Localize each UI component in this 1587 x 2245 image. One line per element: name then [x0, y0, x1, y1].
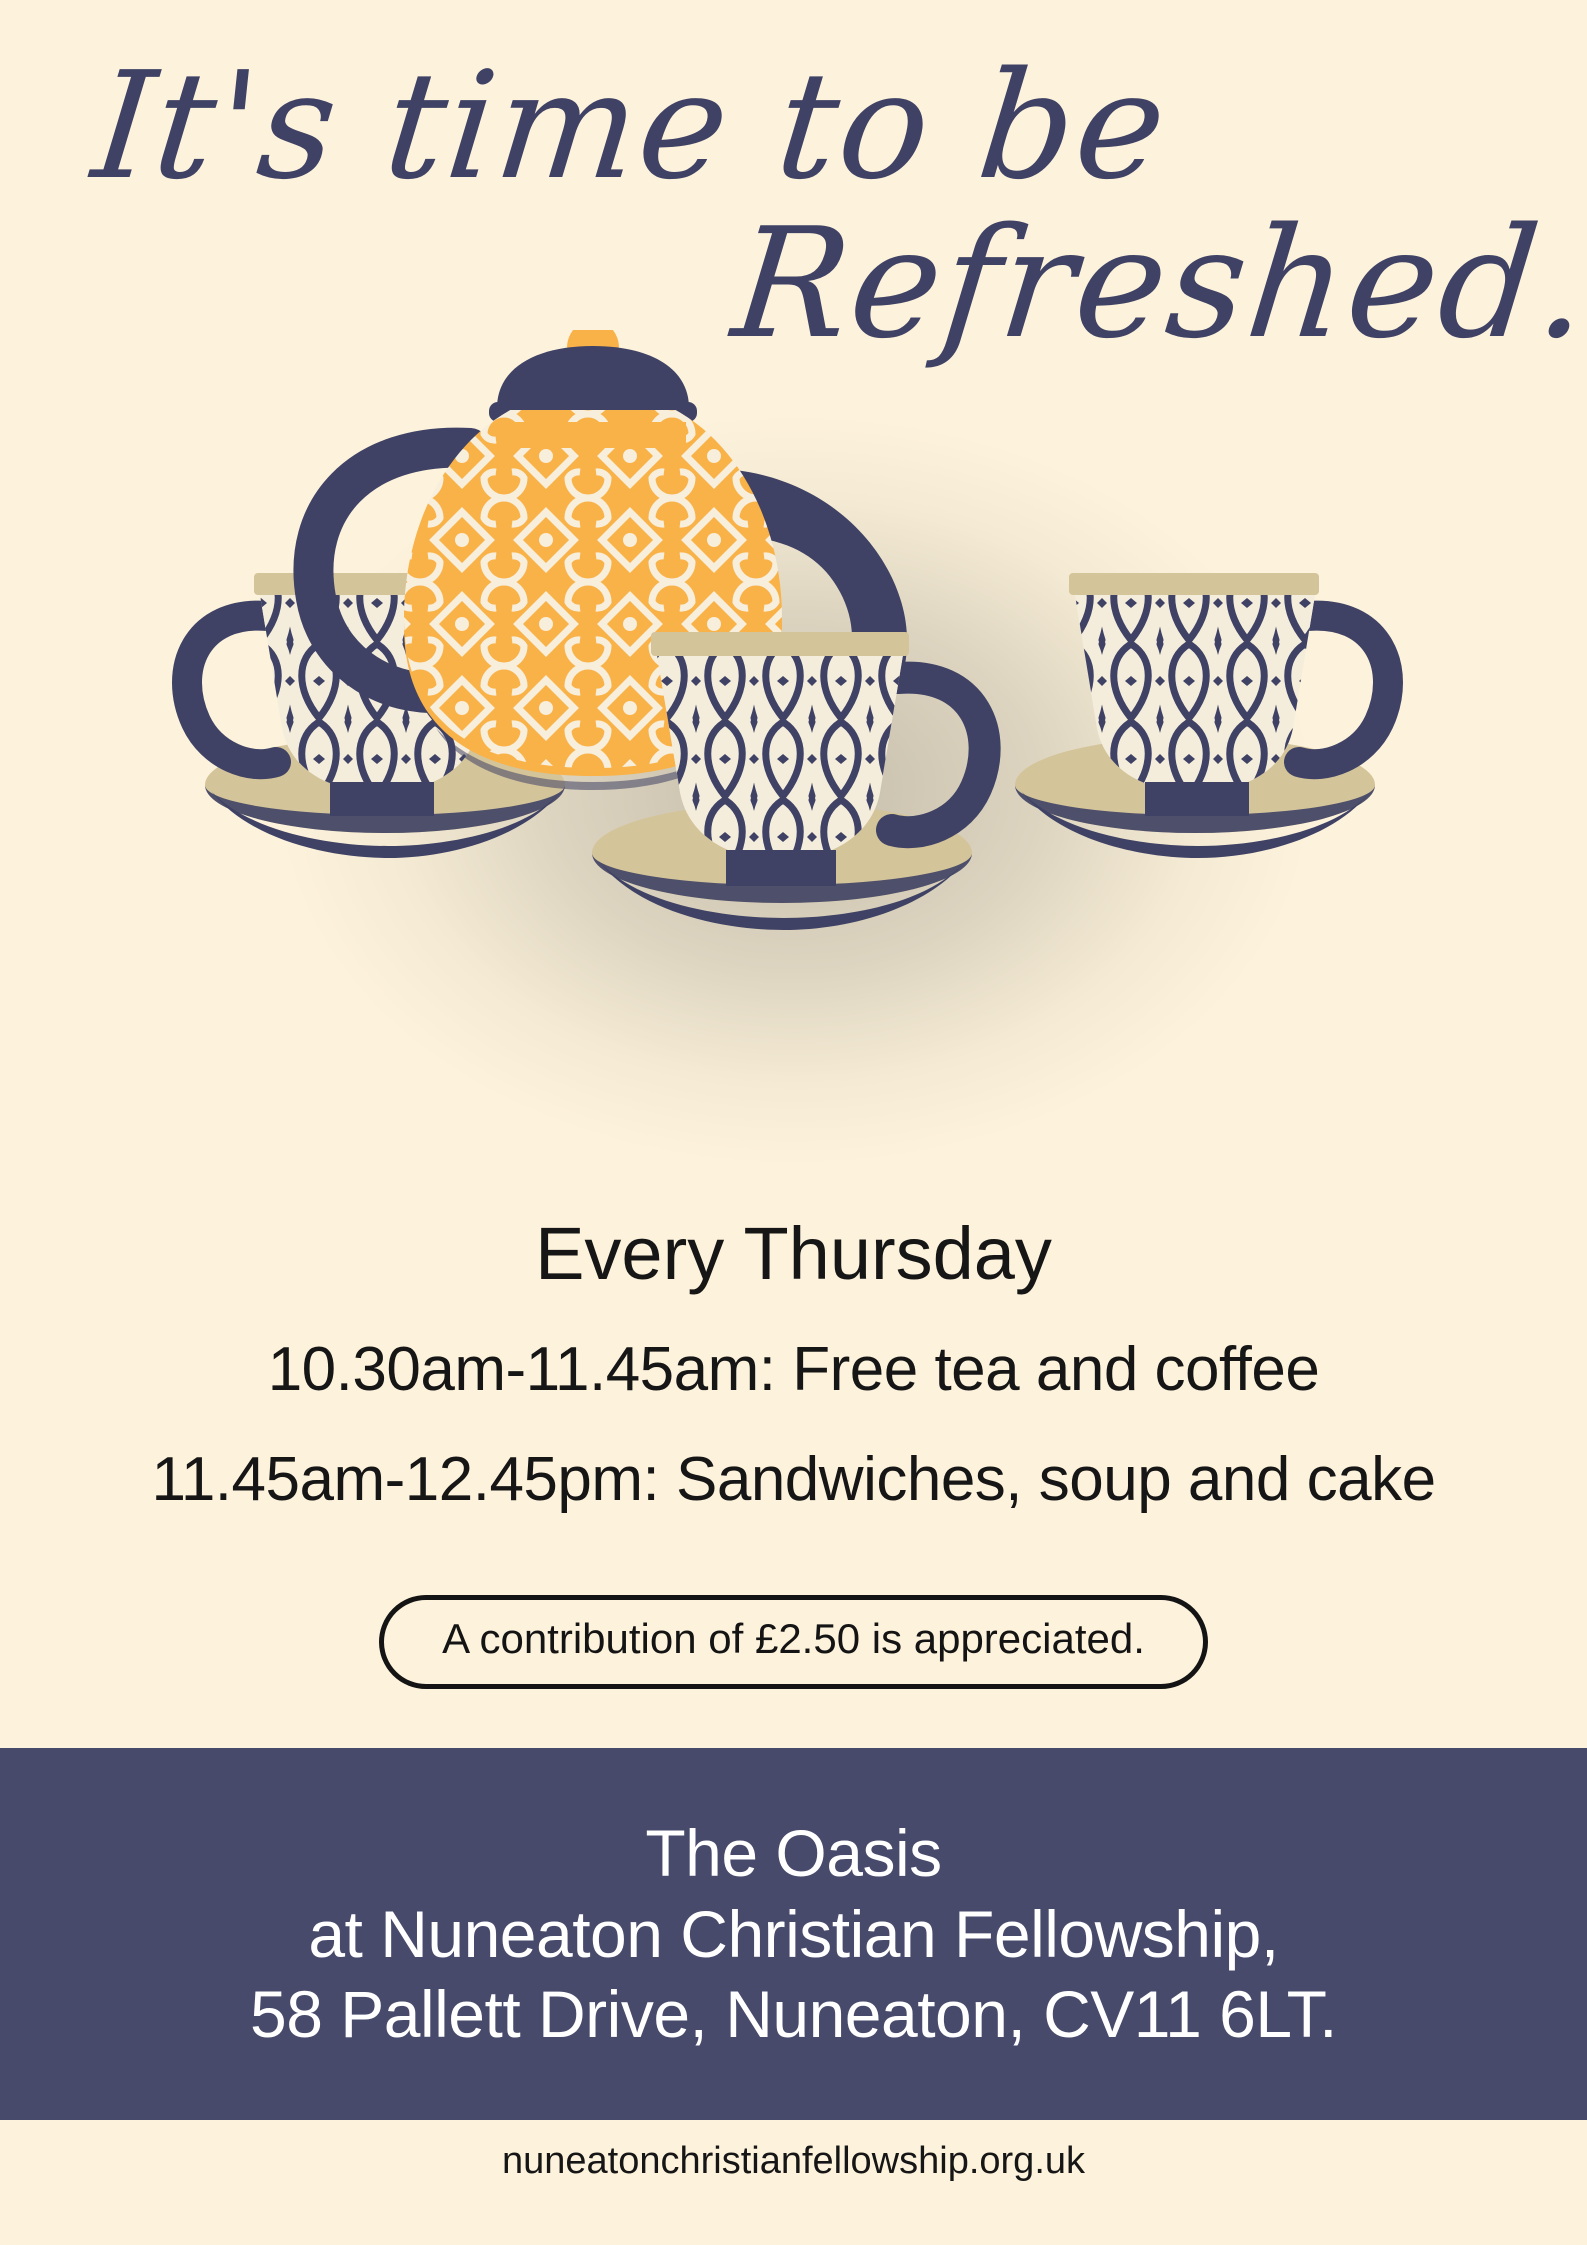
venue-line-1: The Oasis — [645, 1813, 941, 1894]
poster-root: It's time to be Refreshed. — [0, 0, 1587, 2245]
schedule-block: Every Thursday 10.30am-11.45am: Free tea… — [0, 1215, 1587, 1557]
headline-line-2: Refreshed. — [727, 208, 1587, 360]
schedule-slot-1: 10.30am-11.45am: Free tea and coffee — [0, 1337, 1587, 1403]
venue-line-2: at Nuneaton Christian Fellowship, — [308, 1894, 1278, 1975]
website-url: nuneatonchristianfellowship.org.uk — [502, 2140, 1085, 2183]
website-strip: nuneatonchristianfellowship.org.uk — [0, 2120, 1587, 2245]
headline-line-1: It's time to be — [87, 52, 1174, 200]
schedule-slot-2: 11.45am-12.45pm: Sandwiches, soup and ca… — [0, 1447, 1587, 1513]
schedule-day: Every Thursday — [0, 1215, 1587, 1293]
venue-line-3: 58 Pallett Drive, Nuneaton, CV11 6LT. — [250, 1974, 1337, 2055]
contribution-note: A contribution of £2.50 is appreciated. — [379, 1595, 1208, 1689]
tea-set-illustration — [0, 330, 1587, 1160]
venue-band: The Oasis at Nuneaton Christian Fellowsh… — [0, 1748, 1587, 2120]
teacup-right — [1015, 573, 1388, 858]
contribution-pill-wrapper: A contribution of £2.50 is appreciated. — [0, 1595, 1587, 1689]
